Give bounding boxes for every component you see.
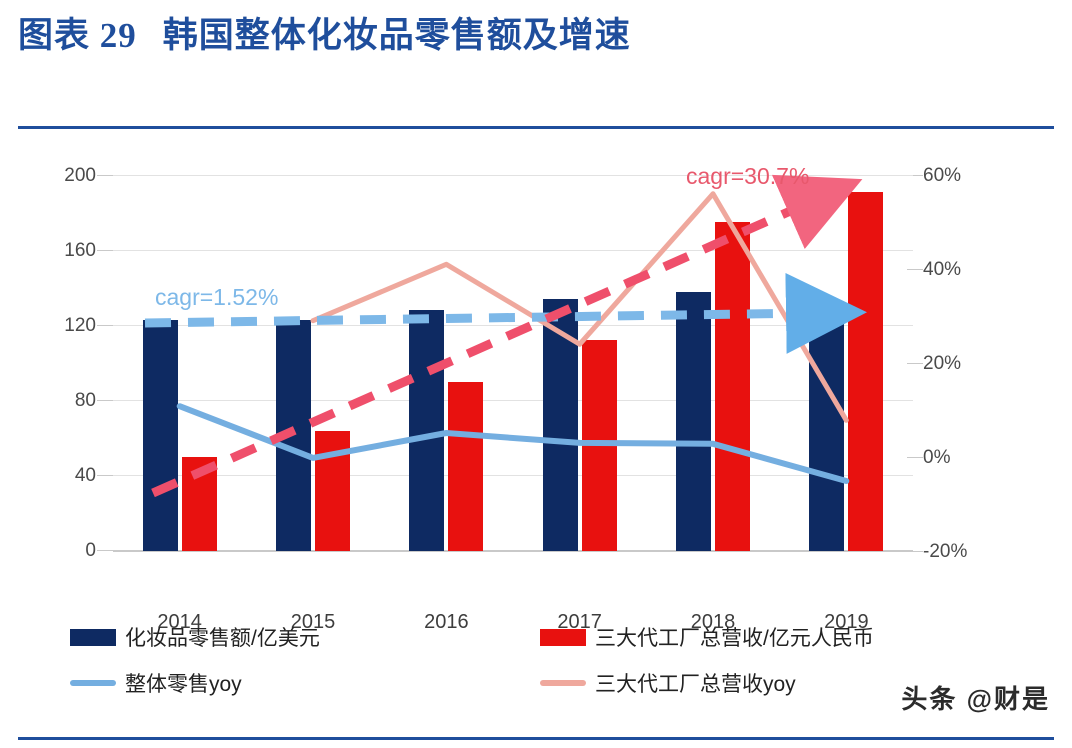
watermark: 头条 @财是 <box>901 679 1050 716</box>
figure-title: 图表 29 韩国整体化妆品零售额及增速 <box>18 4 1058 60</box>
y-tick-left-0: 0 <box>85 540 96 562</box>
bar-retail-2018 <box>676 292 711 551</box>
y-tick-left-120: 120 <box>64 315 96 337</box>
y-tick-right-40: 40% <box>923 259 961 281</box>
bar-oem-2017 <box>582 340 617 551</box>
legend-item-retail-yoy: 整体零售yoy <box>70 668 242 698</box>
bottom-divider <box>18 737 1054 740</box>
bar-oem-2018 <box>715 222 750 551</box>
bar-retail-2016 <box>409 310 444 551</box>
bar-retail-2015 <box>276 320 311 551</box>
tick-mark <box>97 550 113 551</box>
legend-item-oem-bar: 三大代工厂总营收/亿元人民币 <box>540 622 874 652</box>
series-overlay <box>113 175 913 551</box>
tick-mark <box>97 175 113 176</box>
bar-retail-2017 <box>543 299 578 551</box>
legend-swatch-red-icon <box>540 629 586 646</box>
tick-mark <box>97 400 113 401</box>
plot-area: 2014 2015 2016 2017 2018 2019 <box>113 175 913 551</box>
y-tick-left-40: 40 <box>75 465 96 487</box>
bar-oem-2016 <box>448 382 483 551</box>
legend-swatch-lightblue-line-icon <box>70 680 116 686</box>
cagr-retail-arrow <box>145 313 813 323</box>
figure-number: 图表 29 <box>18 7 137 58</box>
chart-container: 200 160 120 80 40 0 60% 40% 20% 0% -20% <box>18 129 1054 619</box>
legend-label-oem-bar: 三大代工厂总营收/亿元人民币 <box>595 622 874 652</box>
annotation-cagr-retail: cagr=1.52% <box>155 284 278 311</box>
bar-oem-2014 <box>182 457 217 551</box>
figure-page: 图表 29 韩国整体化妆品零售额及增速 200 160 120 80 40 0 … <box>0 0 1072 748</box>
legend-swatch-pink-line-icon <box>540 680 586 686</box>
y-tick-left-160: 160 <box>64 240 96 262</box>
bar-retail-2019 <box>809 303 844 551</box>
y-tick-right-20: 20% <box>923 353 961 375</box>
legend-label-retail-yoy: 整体零售yoy <box>125 668 242 698</box>
legend-label-retail-bar: 化妆品零售额/亿美元 <box>125 622 320 652</box>
legend-label-oem-yoy: 三大代工厂总营收yoy <box>595 668 796 698</box>
y-tick-left-200: 200 <box>64 165 96 187</box>
chart-legend: 化妆品零售额/亿美元 三大代工厂总营收/亿元人民币 整体零售yoy 三大代工厂总… <box>70 618 970 710</box>
tick-mark <box>97 250 113 251</box>
line-oem-yoy <box>313 194 846 420</box>
y-tick-right-neg20: -20% <box>923 541 967 563</box>
y-tick-right-0: 0% <box>923 447 950 469</box>
bar-retail-2014 <box>143 320 178 551</box>
gridline <box>113 250 913 251</box>
tick-mark <box>97 325 113 326</box>
y-tick-right-60: 60% <box>923 165 961 187</box>
page-title: 韩国整体化妆品零售额及增速 <box>163 7 631 58</box>
x-axis-line <box>113 550 913 552</box>
legend-item-oem-yoy: 三大代工厂总营收yoy <box>540 668 796 698</box>
y-tick-left-80: 80 <box>75 390 96 412</box>
legend-item-retail-bar: 化妆品零售额/亿美元 <box>70 622 320 652</box>
legend-swatch-navy-icon <box>70 629 116 646</box>
gridline <box>113 475 913 476</box>
tick-mark <box>97 475 113 476</box>
gridline <box>113 400 913 401</box>
bar-oem-2019 <box>848 192 883 551</box>
y-axis-left-ticks <box>97 129 113 569</box>
gridline <box>113 325 913 326</box>
bar-oem-2015 <box>315 431 350 551</box>
annotation-cagr-oem: cagr=30.7% <box>686 163 809 190</box>
